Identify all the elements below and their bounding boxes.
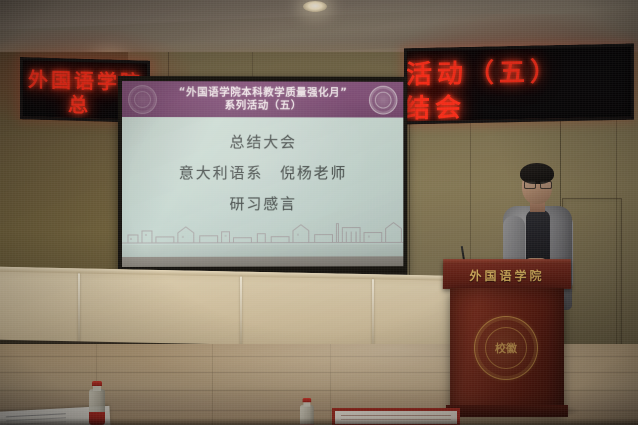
floor-plank-seam [330, 344, 331, 425]
led-left-line2: 总 [68, 89, 91, 119]
podium-body: 校徽 [450, 288, 564, 413]
lecture-hall-photo: 外国语学院 总 活动（五） 结会 “外国语学院本科教学质量强化月” 系列活动（五… [0, 0, 638, 425]
speaker-inner-shirt [526, 210, 550, 264]
screen-lower-margin [122, 256, 403, 267]
podium-title: 外国语学院 [443, 267, 571, 284]
university-seal-icon [369, 86, 398, 115]
podium-top: 外国语学院 [443, 259, 571, 289]
projection-screen-surface: “外国语学院本科教学质量强化月” 系列活动（五） 总结大会 意大利语系 倪杨老师… [122, 81, 403, 267]
slide-body-line3: 研习感言 [122, 193, 403, 214]
led-right-line1: 活动（五） [406, 51, 561, 91]
glasses-bridge [535, 183, 539, 184]
slide-header-band: “外国语学院本科教学质量强化月” 系列活动（五） [122, 81, 403, 118]
university-seal-icon [128, 85, 157, 114]
glasses-lens [540, 181, 552, 189]
slide-header-line2: 系列活动（五） [225, 99, 302, 112]
podium-top-edge [443, 259, 571, 264]
campus-skyline-illustration [122, 215, 403, 245]
podium-base [446, 405, 568, 417]
led-right-line2: 结会 [404, 87, 466, 124]
glasses-icon [524, 181, 550, 187]
projection-screen: “外国语学院本科教学质量强化月” 系列活动（五） 总结大会 意大利语系 倪杨老师… [118, 76, 407, 276]
bottle-cap [303, 398, 312, 402]
paper-text-lines [6, 413, 66, 417]
university-seal-icon: 校徽 [474, 316, 538, 380]
floor-plank-seam [212, 344, 213, 425]
presentation-slide: “外国语学院本科教学质量强化月” 系列活动（五） 总结大会 意大利语系 倪杨老师… [122, 81, 403, 257]
slide-body-line1: 总结大会 [122, 131, 403, 152]
slide-body: 总结大会 意大利语系 倪杨老师 研习感言 [122, 117, 403, 257]
foreground-edge-shadow [0, 418, 638, 425]
slide-header-line1: “外国语学院本科教学质量强化月” [179, 86, 348, 100]
bottle-cap [92, 381, 102, 386]
ceiling-downlight-icon [303, 1, 327, 12]
slide-body-line2: 意大利语系 倪杨老师 [122, 162, 403, 183]
slide-footer-band [122, 244, 403, 257]
led-sign-right: 活动（五） 结会 [404, 44, 634, 125]
podium-seal-text: 校徽 [495, 340, 517, 356]
